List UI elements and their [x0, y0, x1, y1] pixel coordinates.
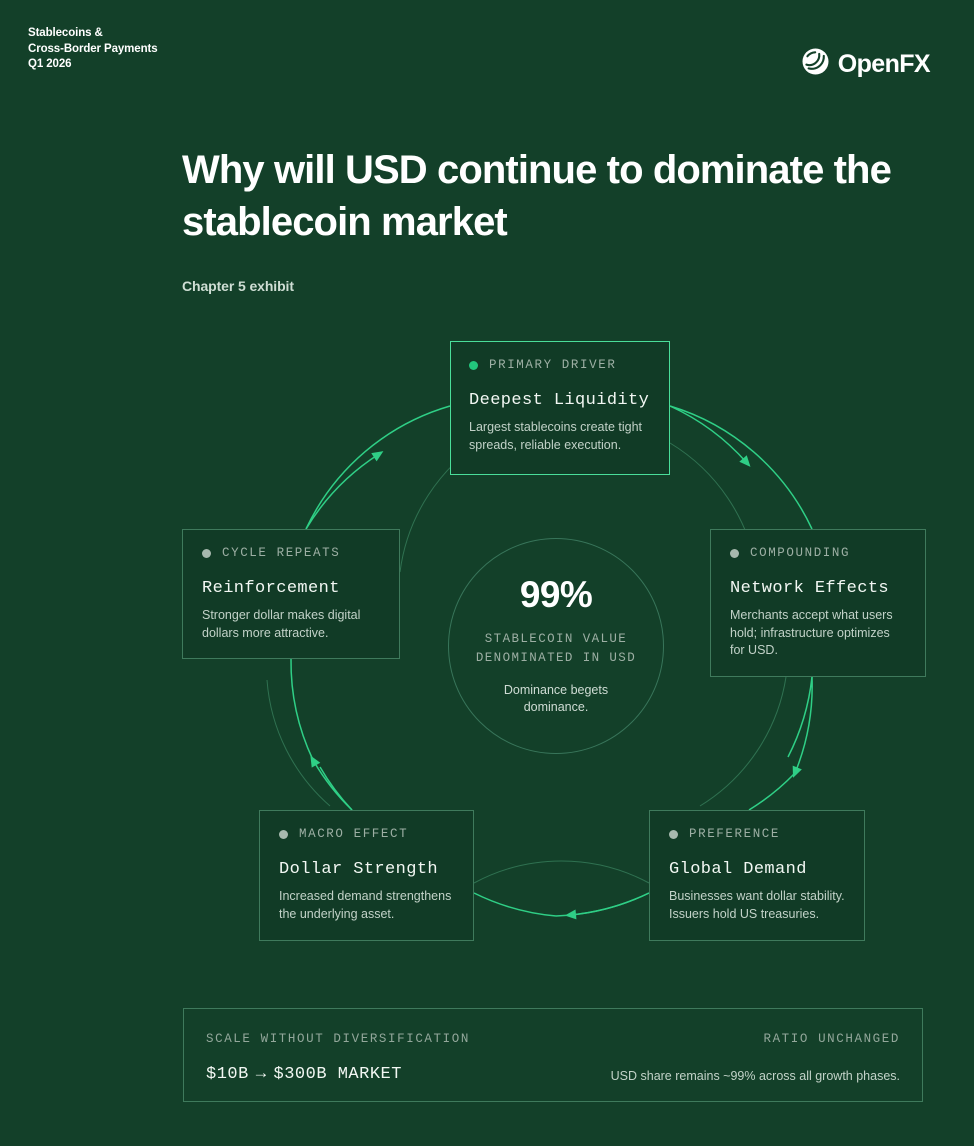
cycle-diagram: 99% STABLECOIN VALUE DENOMINATED IN USD … — [0, 0, 974, 1146]
footer-callout: SCALE WITHOUT DIVERSIFICATION $10B→$300B… — [183, 1008, 923, 1102]
footer-right-block: RATIO UNCHANGED USD share remains ~99% a… — [611, 1032, 900, 1101]
status-dot-icon — [279, 830, 288, 839]
footer-value-to: $300B MARKET — [274, 1065, 402, 1084]
slide-canvas: Stablecoins & Cross-Border Payments Q1 2… — [0, 0, 974, 1146]
node-kicker: MACRO EFFECT — [299, 827, 408, 841]
node-head: PREFERENCE — [669, 827, 845, 841]
node-kicker: CYCLE REPEATS — [222, 546, 340, 560]
node-head: PRIMARY DRIVER — [469, 358, 651, 372]
node-primary-driver[interactable]: PRIMARY DRIVER Deepest Liquidity Largest… — [450, 341, 670, 475]
status-dot-icon — [730, 549, 739, 558]
node-head: MACRO EFFECT — [279, 827, 454, 841]
hub-label: STABLECOIN VALUE DENOMINATED IN USD — [476, 630, 636, 668]
node-description: Increased demand strengthens the underly… — [279, 888, 454, 923]
node-head: COMPOUNDING — [730, 546, 906, 560]
node-head: CYCLE REPEATS — [202, 546, 380, 560]
footer-right-kicker: RATIO UNCHANGED — [611, 1032, 900, 1046]
footer-right-note: USD share remains ~99% across all growth… — [611, 1069, 900, 1083]
status-dot-icon — [202, 549, 211, 558]
node-title: Network Effects — [730, 579, 906, 598]
node-title: Dollar Strength — [279, 860, 454, 879]
node-preference[interactable]: PREFERENCE Global Demand Businesses want… — [649, 810, 865, 941]
node-title: Global Demand — [669, 860, 845, 879]
node-title: Deepest Liquidity — [469, 391, 651, 410]
node-compounding[interactable]: COMPOUNDING Network Effects Merchants ac… — [710, 529, 926, 677]
node-kicker: PREFERENCE — [689, 827, 780, 841]
node-title: Reinforcement — [202, 579, 380, 598]
footer-left-kicker: SCALE WITHOUT DIVERSIFICATION — [206, 1032, 470, 1046]
status-dot-icon — [669, 830, 678, 839]
center-hub: 99% STABLECOIN VALUE DENOMINATED IN USD … — [448, 538, 664, 754]
node-description: Businesses want dollar stability. Issuer… — [669, 888, 845, 923]
hub-value: 99% — [520, 576, 592, 613]
hub-note: Dominance begets dominance. — [486, 682, 626, 717]
node-macro-effect[interactable]: MACRO EFFECT Dollar Strength Increased d… — [259, 810, 474, 941]
node-description: Merchants accept what users hold; infras… — [730, 607, 906, 660]
node-description: Stronger dollar makes digital dollars mo… — [202, 607, 380, 642]
node-cycle-repeats[interactable]: CYCLE REPEATS Reinforcement Stronger dol… — [182, 529, 400, 659]
footer-value-from: $10B — [206, 1065, 249, 1084]
footer-left-block: SCALE WITHOUT DIVERSIFICATION $10B→$300B… — [206, 1032, 470, 1101]
node-description: Largest stablecoins create tight spreads… — [469, 419, 651, 454]
node-kicker: PRIMARY DRIVER — [489, 358, 616, 372]
status-dot-icon — [469, 361, 478, 370]
node-kicker: COMPOUNDING — [750, 546, 850, 560]
footer-headline: $10B→$300B MARKET — [206, 1065, 470, 1084]
arrow-right-icon: → — [249, 1065, 274, 1084]
